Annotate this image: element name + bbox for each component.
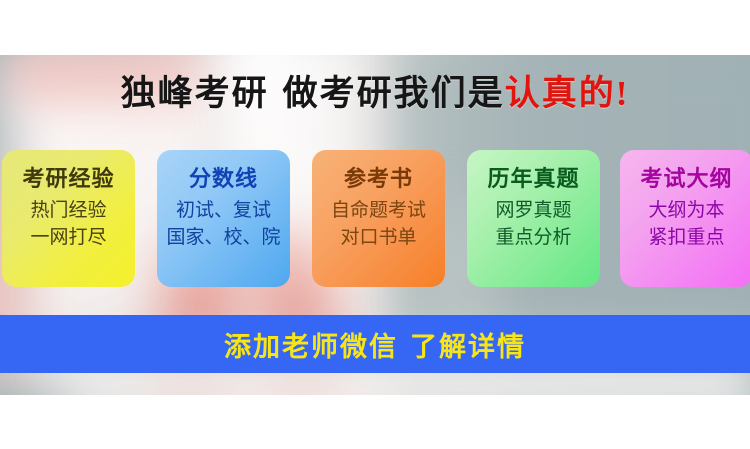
top-white-plate xyxy=(0,0,750,55)
card-subtitle-line-2: 一网打尽 xyxy=(2,224,135,251)
card-title: 分数线 xyxy=(157,165,290,193)
headline-brand: 独峰考研 xyxy=(121,74,269,113)
bottom-white-plate xyxy=(0,395,750,449)
cta-text: 添加老师微信了解详情 xyxy=(224,325,526,364)
cta-band[interactable]: 添加老师微信了解详情 xyxy=(0,315,750,373)
promo-banner: 独峰考研做考研我们是认真的! 考研经验 热门经验 一网打尽 分数线 初试、复试 … xyxy=(0,0,750,449)
headline: 独峰考研做考研我们是认真的! xyxy=(0,72,750,116)
category-card-kaoyan-jingyan[interactable]: 考研经验 热门经验 一网打尽 xyxy=(2,150,135,287)
category-card-cankaoshu[interactable]: 参考书 自命题考试 对口书单 xyxy=(312,150,445,287)
category-card-kaoshi-dagang[interactable]: 考试大纲 大纲为本 紧扣重点 xyxy=(620,150,750,287)
card-subtitle-line-2: 重点分析 xyxy=(467,224,600,251)
card-title: 参考书 xyxy=(312,165,445,193)
card-subtitle-line-1: 热门经验 xyxy=(2,197,135,224)
headline-red-part: 认真的! xyxy=(505,74,630,113)
card-subtitle-line-2: 对口书单 xyxy=(312,224,445,251)
category-card-row: 考研经验 热门经验 一网打尽 分数线 初试、复试 国家、校、院 参考书 自命题考… xyxy=(2,150,750,287)
cta-text-part-1: 添加老师微信 xyxy=(224,332,398,362)
card-subtitle-line-1: 初试、复试 xyxy=(157,197,290,224)
card-title: 考研经验 xyxy=(2,165,135,193)
category-card-fenshuxian[interactable]: 分数线 初试、复试 国家、校、院 xyxy=(157,150,290,287)
headline-black-part: 做考研我们是 xyxy=(283,74,505,113)
card-subtitle-line-2: 国家、校、院 xyxy=(157,224,290,251)
category-card-linian-zhenti[interactable]: 历年真题 网罗真题 重点分析 xyxy=(467,150,600,287)
card-subtitle-line-1: 大纲为本 xyxy=(620,197,750,224)
card-subtitle-line-2: 紧扣重点 xyxy=(620,224,750,251)
card-subtitle-line-1: 自命题考试 xyxy=(312,197,445,224)
card-title: 考试大纲 xyxy=(620,165,750,193)
card-title: 历年真题 xyxy=(467,165,600,193)
cta-text-part-2: 了解详情 xyxy=(410,332,526,362)
card-subtitle-line-1: 网罗真题 xyxy=(467,197,600,224)
